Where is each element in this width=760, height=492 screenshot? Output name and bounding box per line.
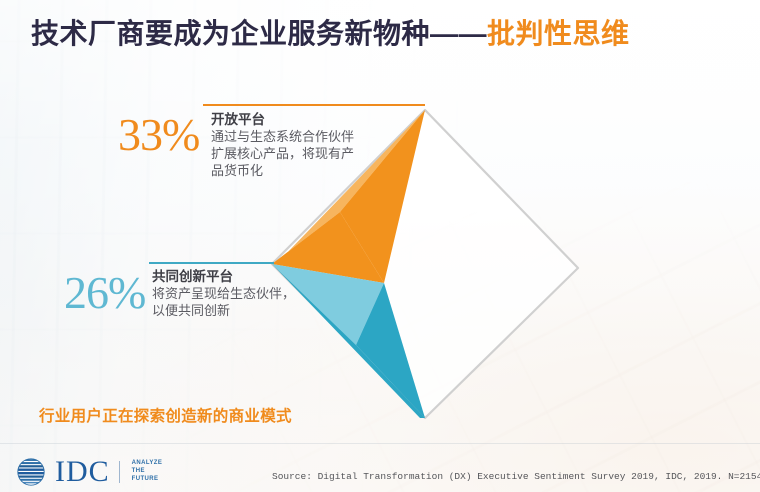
callout-text-open-platform: 开放平台 通过与生态系统合作伙伴扩展核心产品，将现有产品货币化 xyxy=(211,112,357,180)
footer-divider xyxy=(0,443,760,444)
callout-description-open-platform: 通过与生态系统合作伙伴扩展核心产品，将现有产品货币化 xyxy=(211,129,357,180)
callout-percent-26: 26% xyxy=(64,270,145,316)
logo-divider xyxy=(119,461,120,483)
callout-rule-teal xyxy=(149,262,274,264)
slide-canvas: 技术厂商要成为企业服务新物种——批判性思维 33% 开放平台 通过与生态系统合作… xyxy=(0,0,760,492)
callout-percent-33: 33% xyxy=(118,112,199,158)
idc-wordmark: IDC xyxy=(55,457,110,487)
idc-tagline-line2: The xyxy=(132,468,163,476)
callout-text-co-innovation: 共同创新平台 将资产呈现给生态伙伴，以便共同创新 xyxy=(152,269,304,320)
globe-icon xyxy=(14,455,48,489)
callout-heading-open-platform: 开放平台 xyxy=(211,112,357,129)
idc-tagline-line3: Future xyxy=(132,476,163,484)
callout-rule-orange xyxy=(203,104,425,106)
idc-tagline: Analyze The Future xyxy=(132,460,163,484)
idc-tagline-line1: Analyze xyxy=(132,460,163,468)
idc-logo: IDC Analyze The Future xyxy=(14,455,162,489)
source-note: Source: Digital Transformation (DX) Exec… xyxy=(272,471,760,482)
callout-heading-co-innovation: 共同创新平台 xyxy=(152,269,304,286)
bottom-caption: 行业用户正在探索创造新的商业模式 xyxy=(39,404,292,426)
callout-description-co-innovation: 将资产呈现给生态伙伴，以便共同创新 xyxy=(152,286,304,320)
